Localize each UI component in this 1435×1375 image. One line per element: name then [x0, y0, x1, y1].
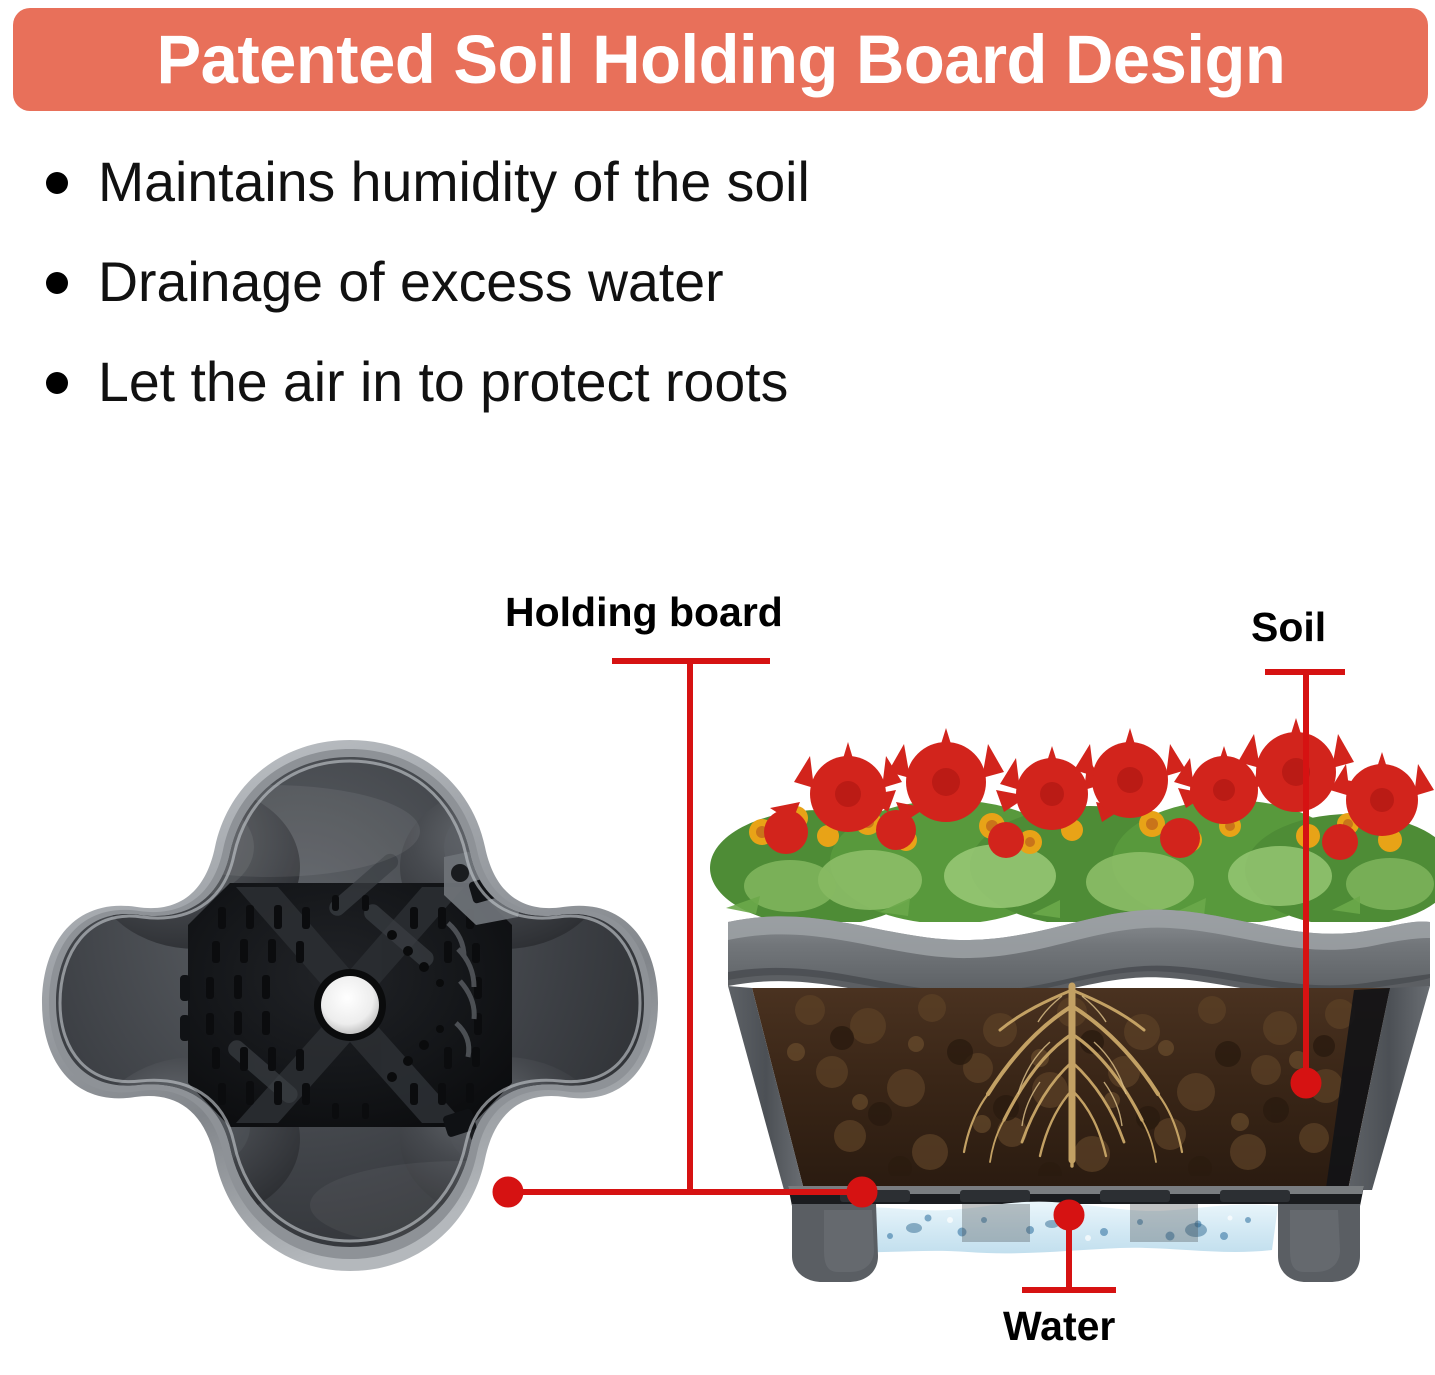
- flower-cluster: [710, 718, 1435, 926]
- soil-cross-section: [728, 986, 1430, 1190]
- callout-label-soil: Soil: [1251, 607, 1326, 648]
- planter-cutaway-illustration: [700, 690, 1435, 1300]
- feature-list: Maintains humidity of the soil Drainage …: [46, 150, 1146, 450]
- page-title: Patented Soil Holding Board Design: [156, 25, 1285, 94]
- callout-label-holding-board: Holding board: [505, 592, 783, 633]
- list-item-label: Maintains humidity of the soil: [98, 150, 810, 214]
- list-item: Let the air in to protect roots: [46, 350, 1146, 414]
- bullet-icon: [46, 372, 68, 394]
- list-item-label: Drainage of excess water: [98, 250, 724, 314]
- planter-top-down-photo: [40, 735, 660, 1360]
- bullet-icon: [46, 172, 68, 194]
- list-item: Maintains humidity of the soil: [46, 150, 1146, 214]
- list-item-label: Let the air in to protect roots: [98, 350, 788, 414]
- callout-label-water: Water: [1003, 1306, 1115, 1347]
- bullet-icon: [46, 272, 68, 294]
- header-banner: Patented Soil Holding Board Design: [13, 8, 1428, 111]
- list-item: Drainage of excess water: [46, 250, 1146, 314]
- holding-board-plate: [788, 1186, 1364, 1206]
